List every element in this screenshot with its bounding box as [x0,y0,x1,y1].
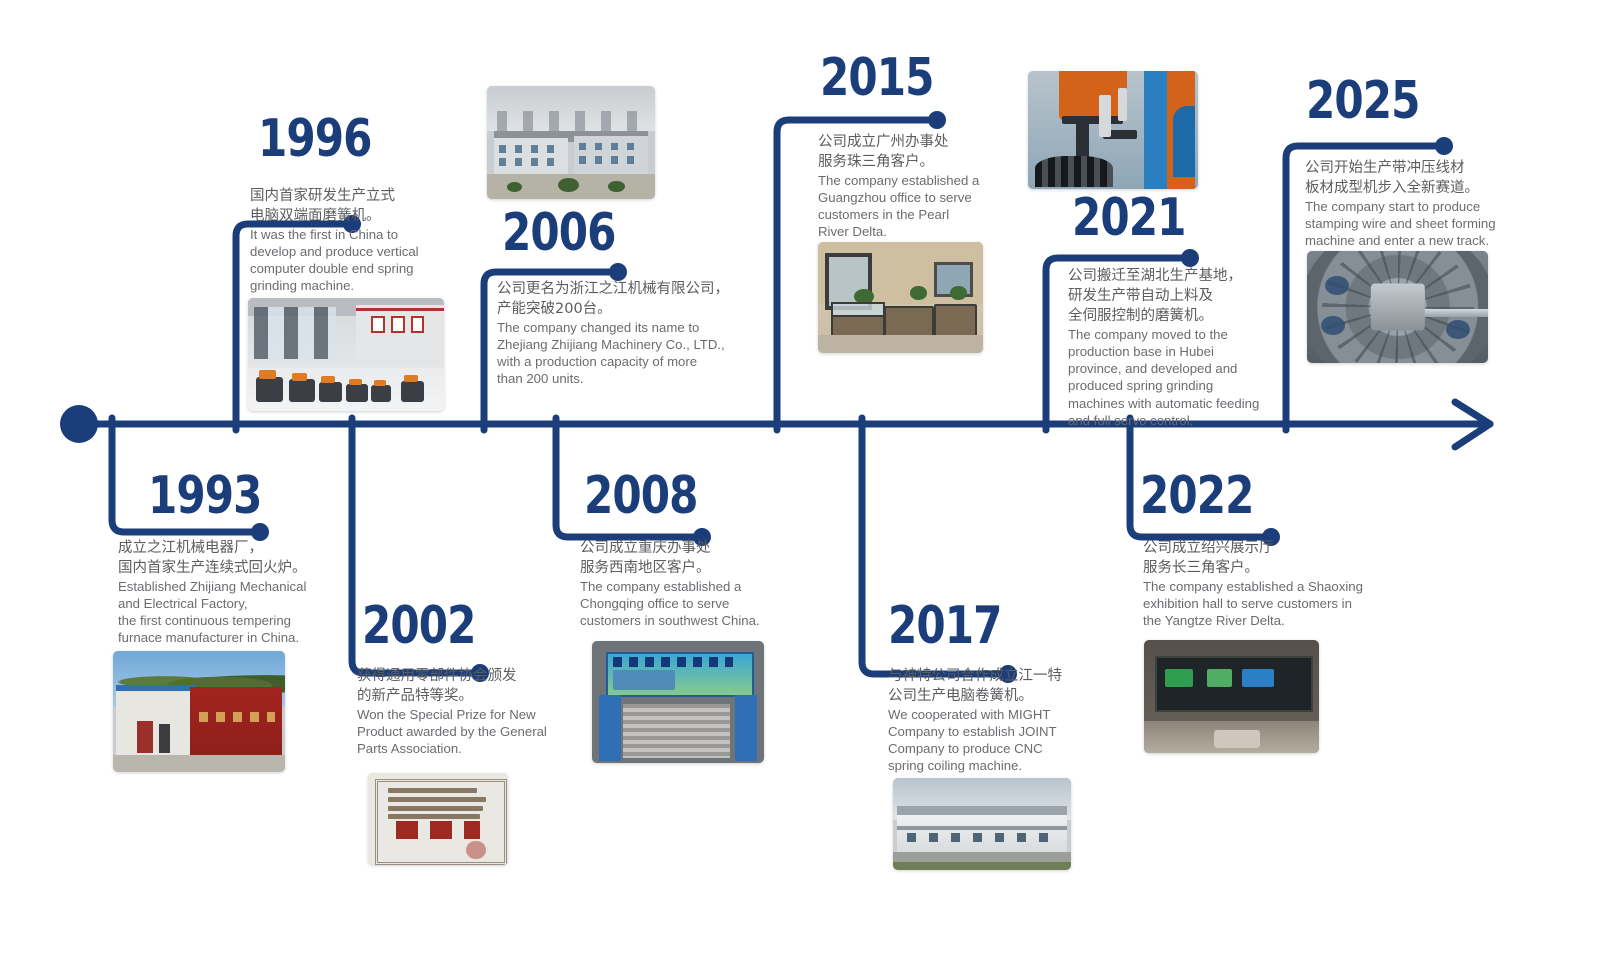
milestone-cn-2017: 与神特公司合作成立江一特 公司生产电脑卷簧机。 [888,666,1103,706]
photo-2015-guangzhou-office [818,242,983,353]
node-dot-2021 [1181,249,1199,267]
photo-2006-factory-aerial [487,86,655,199]
milestone-2006[interactable]: 2006 [502,207,717,259]
photo-1996-workshop [248,298,444,411]
milestone-1996[interactable]: 1996 [258,113,473,165]
milestone-cn-2021: 公司搬迁至湖北生产基地， 研发生产带自动上料及 全伺服控制的磨簧机。 [1068,266,1288,326]
node-dot-2025 [1435,137,1453,155]
milestone-year-1993: 1993 [148,470,342,522]
milestone-cn-2015: 公司成立广州办事处 服务珠三角客户。 [818,132,1033,172]
milestone-text-2008: 公司成立重庆办事处 服务西南地区客户。 The company establis… [580,538,810,629]
photo-2025-cnc-head [1307,251,1488,363]
milestone-text-2015: 公司成立广州办事处 服务珠三角客户。 The company establish… [818,132,1033,241]
milestone-text-2006: 公司更名为浙江之江机械有限公司， 产能突破200台。 The company c… [497,279,749,388]
milestone-cn-1996: 国内首家研发生产立式 电脑双端面磨簧机。 [250,186,455,226]
milestone-cn-2006: 公司更名为浙江之江机械有限公司， 产能突破200台。 [497,279,749,319]
milestone-1993[interactable]: 1993 [148,470,363,522]
milestone-cn-1993: 成立之江机械电器厂， 国内首家生产连续式回火炉。 [118,538,350,578]
milestone-2002[interactable]: 2002 [362,600,577,652]
milestone-text-1993: 成立之江机械电器厂， 国内首家生产连续式回火炉。 Established Zhi… [118,538,350,647]
milestone-en-2002: Won the Special Prize for New Product aw… [357,706,579,757]
milestone-cn-2008: 公司成立重庆办事处 服务西南地区客户。 [580,538,810,578]
milestone-year-1996: 1996 [258,113,452,165]
milestone-2025[interactable]: 2025 [1306,75,1521,127]
milestone-en-1996: It was the first in China to develop and… [250,226,455,295]
milestone-en-2006: The company changed its name to Zhejiang… [497,319,749,388]
milestone-year-2015: 2015 [820,52,1014,104]
milestone-en-2015: The company established a Guangzhou offi… [818,172,1033,241]
milestone-en-2022: The company established a Shaoxing exhib… [1143,578,1405,629]
milestone-2021[interactable]: 2021 [1072,192,1287,244]
milestone-2017[interactable]: 2017 [888,600,1103,652]
milestone-en-2008: The company established a Chongqing offi… [580,578,810,629]
milestone-en-1993: Established Zhijiang Mechanical and Elec… [118,578,350,647]
milestone-cn-2025: 公司开始生产带冲压线材 板材成型机步入全新赛道。 [1305,158,1527,198]
milestone-text-2022: 公司成立绍兴展示厅 服务长三角客户。 The company establish… [1143,538,1405,629]
milestone-2015[interactable]: 2015 [820,52,1035,104]
milestone-en-2021: The company moved to the production base… [1068,326,1288,429]
milestone-year-2002: 2002 [362,600,556,652]
axis-arrow-head [1455,402,1490,447]
milestone-text-2017: 与神特公司合作成立江一特 公司生产电脑卷簧机。 We cooperated wi… [888,666,1103,775]
milestone-text-2021: 公司搬迁至湖北生产基地， 研发生产带自动上料及 全伺服控制的磨簧机。 The c… [1068,266,1288,429]
photo-2002-award-certificate [368,773,508,865]
photo-2008-chongqing-office [592,641,764,763]
timeline-infographic: 1993 成立之江机械电器厂， 国内首家生产连续式回火炉。 Establishe… [0,0,1600,959]
milestone-en-2017: We cooperated with MIGHT Company to esta… [888,706,1103,775]
photo-2017-plant-building [893,778,1071,870]
photo-2021-robot-loader [1028,71,1198,189]
milestone-cn-2022: 公司成立绍兴展示厅 服务长三角客户。 [1143,538,1405,578]
milestone-year-2006: 2006 [502,207,696,259]
milestone-text-2002: 获得通用零部件协会颁发 的新产品特等奖。 Won the Special Pri… [357,666,579,757]
milestone-2022[interactable]: 2022 [1140,470,1355,522]
milestone-en-2025: The company start to produce stamping wi… [1305,198,1527,249]
node-dot-2015 [928,111,946,129]
milestone-year-2025: 2025 [1306,75,1500,127]
milestone-text-1996: 国内首家研发生产立式 电脑双端面磨簧机。 It was the first in… [250,186,455,295]
milestone-year-2008: 2008 [584,470,778,522]
photo-1993-factory-gate [113,651,285,772]
milestone-year-2021: 2021 [1072,192,1266,244]
milestone-text-2025: 公司开始生产带冲压线材 板材成型机步入全新赛道。 The company sta… [1305,158,1527,249]
axis-origin-dot [60,405,98,443]
milestone-2008[interactable]: 2008 [584,470,799,522]
photo-2022-shaoxing-showroom [1144,640,1319,753]
milestone-cn-2002: 获得通用零部件协会颁发 的新产品特等奖。 [357,666,579,706]
milestone-year-2022: 2022 [1140,470,1334,522]
milestone-year-2017: 2017 [888,600,1082,652]
